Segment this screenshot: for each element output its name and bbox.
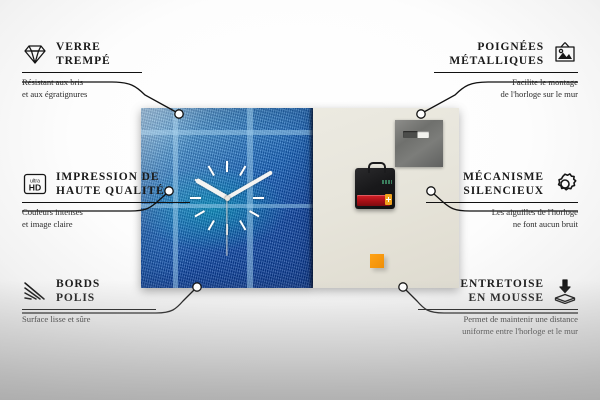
product-infographic: VERRETREMPÉ Résistant aux briset aux égr… — [0, 0, 600, 400]
clock-mechanism — [355, 168, 395, 209]
callout-entretoise-en-mousse[interactable]: ENTRETOISEEN MOUSSE Permet de maintenir … — [418, 277, 578, 337]
metal-hanger-plate — [395, 120, 443, 167]
callout-mecanisme-silencieux[interactable]: MÉCANISMESILENCIEUX Les aiguilles de l'h… — [426, 170, 578, 230]
callout-impression-haute-qualite[interactable]: ultra HD IMPRESSION DEHAUTE QUALITÉ Coul… — [22, 170, 190, 230]
callout-head: ENTRETOISEEN MOUSSE — [418, 277, 578, 305]
battery-plus-icon — [385, 194, 392, 205]
foam-spacer-icon — [552, 278, 578, 304]
foam-spacer — [370, 254, 384, 268]
callout-rule — [434, 72, 578, 73]
callout-subtitle: Facilite le montagede l'horloge sur le m… — [434, 77, 578, 100]
ultra-hd-icon: ultra HD — [22, 171, 48, 197]
battery — [357, 195, 390, 206]
callout-title: ENTRETOISEEN MOUSSE — [460, 277, 544, 305]
callout-poignees-metalliques[interactable]: POIGNÉESMÉTALLIQUES Facilite le montaged… — [434, 40, 578, 100]
callout-head: ultra HD IMPRESSION DEHAUTE QUALITÉ — [22, 170, 190, 198]
callout-title: POIGNÉESMÉTALLIQUES — [449, 40, 544, 68]
callout-subtitle: Couleurs intenseset image claire — [22, 207, 190, 230]
gear-icon — [552, 171, 578, 197]
diamond-icon — [22, 41, 48, 67]
callout-subtitle: Les aiguilles de l'horlogene font aucun … — [426, 207, 578, 230]
callout-subtitle: Résistant aux briset aux égratignures — [22, 77, 142, 100]
callout-rule — [22, 72, 142, 73]
callout-bords-polis[interactable]: BORDSPOLIS Surface lisse et sûre — [22, 277, 156, 326]
callout-verre-trempe[interactable]: VERRETREMPÉ Résistant aux briset aux égr… — [22, 40, 142, 100]
mechanism-label — [382, 180, 392, 184]
callout-rule — [426, 202, 578, 203]
polished-edge-icon — [22, 278, 48, 304]
ultra-hd-large-text: HD — [29, 183, 41, 193]
callout-head: BORDSPOLIS — [22, 277, 156, 305]
callout-title: MÉCANISMESILENCIEUX — [463, 170, 544, 198]
callout-title: BORDSPOLIS — [56, 277, 100, 305]
callout-head: POIGNÉESMÉTALLIQUES — [434, 40, 578, 68]
callout-title: IMPRESSION DEHAUTE QUALITÉ — [56, 170, 165, 198]
callout-rule — [22, 202, 190, 203]
callout-title: VERRETREMPÉ — [56, 40, 111, 68]
picture-hanger-icon — [552, 41, 578, 67]
hanger-slot — [403, 131, 429, 138]
callout-rule — [22, 309, 156, 310]
callout-head: MÉCANISMESILENCIEUX — [426, 170, 578, 198]
callout-subtitle: Surface lisse et sûre — [22, 314, 156, 325]
callout-subtitle: Permet de maintenir une distanceuniforme… — [418, 314, 578, 337]
mechanism-hook — [368, 162, 386, 173]
callout-rule — [418, 309, 578, 310]
callout-head: VERRETREMPÉ — [22, 40, 142, 68]
